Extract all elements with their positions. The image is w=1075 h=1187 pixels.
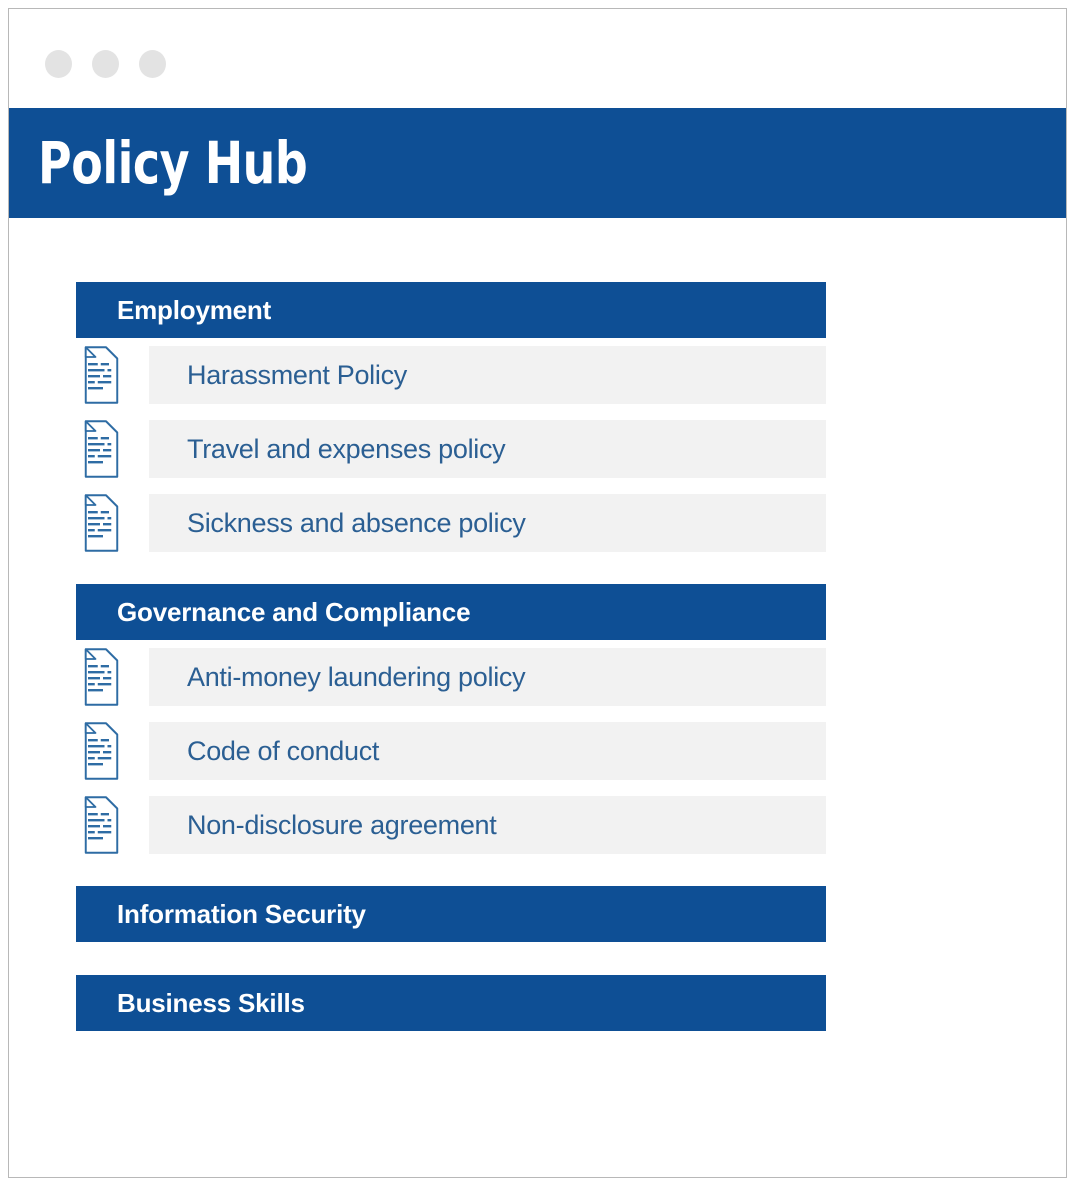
document-icon[interactable] [77,721,126,781]
window-titlebar [9,9,1066,108]
policy-link-row[interactable]: Travel and expenses policy [149,420,826,478]
policy-row: Code of conduct [76,714,826,788]
policy-link-label: Sickness and absence policy [187,508,526,539]
browser-window: Policy Hub Employment Harassment Policy … [8,8,1067,1178]
policy-link-label: Anti-money laundering policy [187,662,525,693]
section-header-label: Information Security [117,899,366,930]
section-header-label: Governance and Compliance [117,597,470,628]
policy-link-row[interactable]: Sickness and absence policy [149,494,826,552]
policy-accordion: Employment Harassment Policy Travel and … [76,282,826,1064]
document-icon[interactable] [77,493,126,553]
policy-link-label: Harassment Policy [187,360,407,391]
section-items: Harassment Policy Travel and expenses po… [76,338,826,560]
page-title: Policy Hub [38,134,307,192]
section-header-employment[interactable]: Employment [76,282,826,338]
section-spacer [76,560,826,584]
document-icon[interactable] [77,345,126,405]
main-content: Employment Harassment Policy Travel and … [9,218,1066,1177]
policy-row: Non-disclosure agreement [76,788,826,862]
policy-row: Harassment Policy [76,338,826,412]
policy-link-label: Travel and expenses policy [187,434,505,465]
accordion-section: Business Skills [76,975,826,1064]
policy-link-row[interactable]: Anti-money laundering policy [149,648,826,706]
section-items: Anti-money laundering policy Code of con… [76,640,826,862]
policy-row: Travel and expenses policy [76,412,826,486]
section-spacer [76,1031,826,1064]
section-header-label: Employment [117,295,271,326]
policy-link-row[interactable]: Non-disclosure agreement [149,796,826,854]
policy-link-row[interactable]: Harassment Policy [149,346,826,404]
policy-link-label: Code of conduct [187,736,379,767]
section-spacer [76,942,826,975]
accordion-section: Employment Harassment Policy Travel and … [76,282,826,584]
window-dot-maximize-icon[interactable] [139,50,166,78]
window-dot-close-icon[interactable] [45,50,72,78]
section-header-business-skills[interactable]: Business Skills [76,975,826,1031]
section-header-governance-and-compliance[interactable]: Governance and Compliance [76,584,826,640]
document-icon[interactable] [77,419,126,479]
app-banner: Policy Hub [9,108,1066,218]
policy-link-label: Non-disclosure agreement [187,810,496,841]
document-icon[interactable] [77,795,126,855]
window-controls [45,50,166,78]
section-spacer [76,862,826,886]
section-header-information-security[interactable]: Information Security [76,886,826,942]
policy-link-row[interactable]: Code of conduct [149,722,826,780]
policy-row: Anti-money laundering policy [76,640,826,714]
policy-row: Sickness and absence policy [76,486,826,560]
section-header-label: Business Skills [117,988,305,1019]
accordion-section: Governance and Compliance Anti-money lau… [76,584,826,886]
document-icon[interactable] [77,647,126,707]
accordion-section: Information Security [76,886,826,975]
window-dot-minimize-icon[interactable] [92,50,119,78]
